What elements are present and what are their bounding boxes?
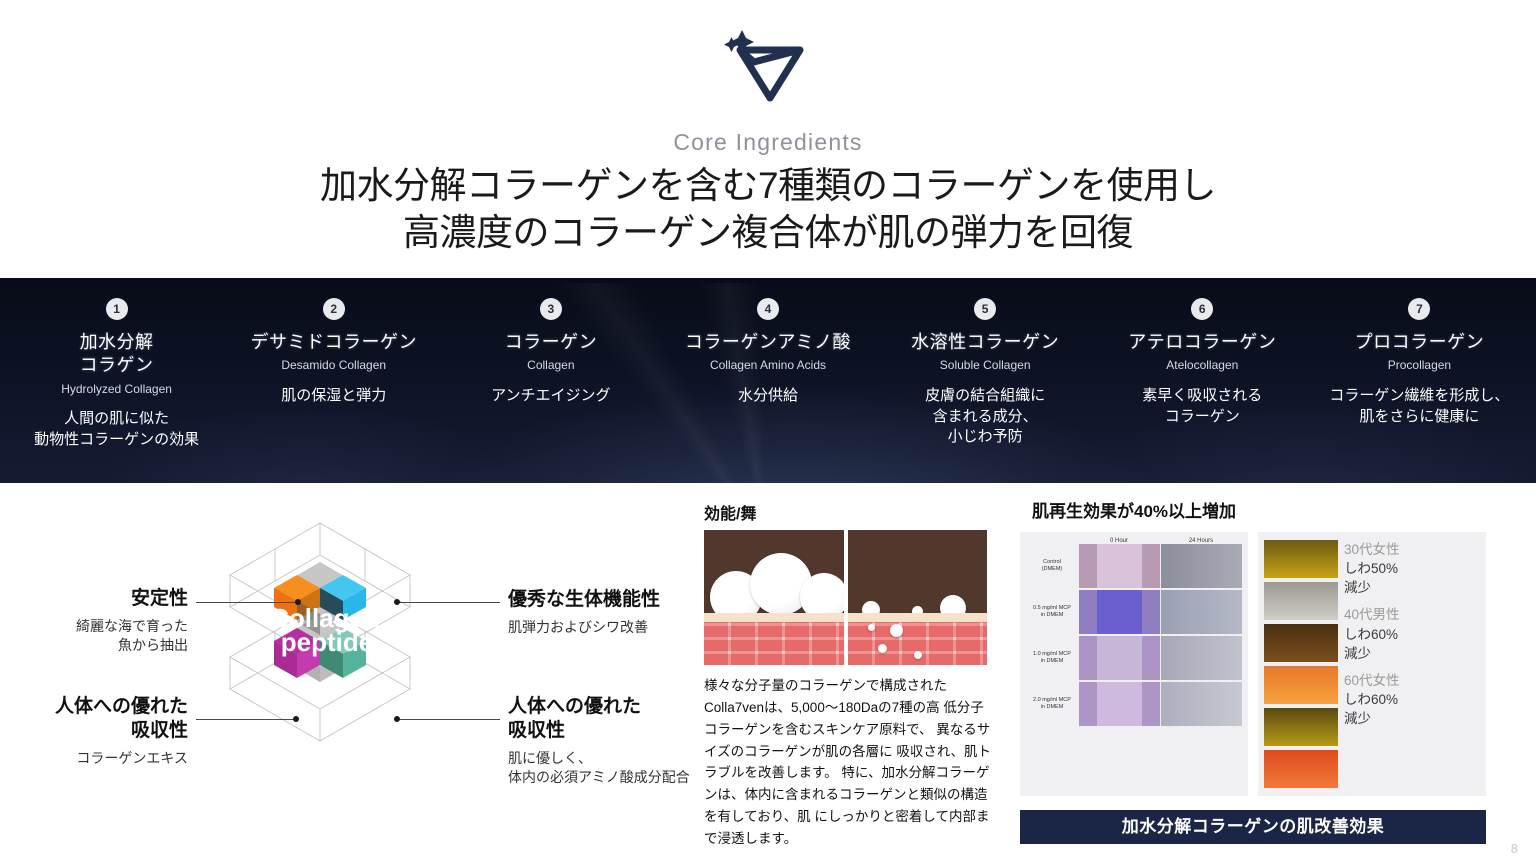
skin-figure-small-molecules: [848, 530, 988, 665]
assay-row: 0.5 mg/ml MCPin DMEM: [1026, 590, 1242, 634]
wrinkle-result-effect: しわ60%減少: [1344, 692, 1398, 726]
ingredient-name-jp-7: プロコラーゲン: [1313, 331, 1526, 354]
leader-dot-top-left: [295, 599, 301, 605]
ingredient-name-en-6: Atelocollagen: [1096, 358, 1309, 374]
ingredient-desc-6: 素早く吸収されるコラーゲン: [1096, 386, 1309, 427]
wrinkle-micro-image: [1264, 540, 1338, 578]
cube-label-biofunction-sub: 肌弾力およびシワ改善: [508, 618, 660, 638]
cube-label-absorption-right-title: 人体への優れた吸収性: [508, 695, 690, 743]
ingredient-desc-7: コラーゲン繊維を形成し、肌をさらに健康に: [1313, 386, 1526, 427]
ingredient-name-jp-1: 加水分解コラゲン: [10, 331, 223, 378]
ingredient-number-4: 4: [757, 298, 779, 320]
cube-label-stability: 安定性 綺麗な海で育った魚から抽出: [0, 587, 188, 656]
assay-row-label: Control(DMEM): [1026, 559, 1078, 573]
assay-image-0h: [1079, 682, 1160, 726]
leader-dot-top-right: [394, 599, 400, 605]
scratch-assay-panel: 0 Hour24 Hours Control(DMEM) 0.5 mg/ml M…: [1020, 532, 1248, 796]
cube-label-absorption-left-title: 人体への優れた吸収性: [0, 695, 188, 743]
ingredient-desc-1: 人間の肌に似た動物性コラーゲンの効果: [10, 409, 223, 450]
assay-image-24h: [1161, 590, 1242, 634]
assay-image-24h: [1161, 636, 1242, 680]
slide-header: Core Ingredients 加水分解コラーゲンを含む7種類のコラーゲンを使…: [0, 0, 1536, 257]
ingredient-desc-2: 肌の保湿と弾力: [227, 386, 440, 407]
headline-line-2: 高濃度のコラーゲン複合体が肌の弾力を回復: [0, 209, 1536, 256]
cube-label-absorption-left-sub: コラーゲンエキス: [0, 749, 188, 769]
leader-line-bottom-right: [396, 719, 500, 720]
cube-label-biofunction: 優秀な生体機能性 肌弾力およびシワ改善: [508, 588, 660, 637]
wrinkle-results-panel: 30代女性 しわ50%減少 40代男性 しわ60%減少 60代女性 しわ60%減…: [1258, 532, 1486, 796]
page-title: 加水分解コラーゲンを含む7種類のコラーゲンを使用し 高濃度のコラーゲン複合体が肌…: [0, 162, 1536, 257]
leader-line-top-right: [396, 602, 500, 603]
wrinkle-image-column: [1264, 540, 1338, 788]
cube-label-stability-title: 安定性: [0, 587, 188, 611]
ingredient-name-en-2: Desamido Collagen: [227, 358, 440, 374]
ingredients-list: 1 加水分解コラゲン Hydrolyzed Collagen 人間の肌に似た動物…: [0, 278, 1536, 483]
leader-dot-bottom-left: [293, 716, 299, 722]
wrinkle-result-effect: しわ60%減少: [1344, 627, 1398, 661]
wrinkle-micro-image: [1264, 582, 1338, 620]
ingredient-item-6: 6 アテロコラーゲン Atelocollagen 素早く吸収されるコラーゲン: [1094, 298, 1311, 483]
wrinkle-result-group: 40代男性: [1344, 607, 1400, 622]
molecule-ball-absorbed: [890, 624, 903, 637]
leader-line-top-left: [196, 602, 298, 603]
wrinkle-result-group: 60代女性: [1344, 673, 1400, 688]
assay-image-0h: [1079, 636, 1160, 680]
leader-dot-bottom-right: [394, 716, 400, 722]
assay-rows: Control(DMEM) 0.5 mg/ml MCPin DMEM 1.0 m…: [1026, 544, 1242, 726]
collagen-peptide-cube: Collagen peptide: [205, 515, 435, 765]
ingredient-name-en-5: Soluble Collagen: [879, 358, 1092, 374]
assay-row: Control(DMEM): [1026, 544, 1242, 588]
wrinkle-result-effect: しわ50%減少: [1344, 561, 1398, 595]
ingredient-number-5: 5: [974, 298, 996, 320]
cube-label-stability-sub: 綺麗な海で育った魚から抽出: [0, 617, 188, 656]
ingredient-name-en-1: Hydrolyzed Collagen: [10, 382, 223, 398]
ingredient-name-en-4: Collagen Amino Acids: [661, 358, 874, 374]
regeneration-title: 肌再生効果が40%以上増加: [1032, 497, 1536, 522]
ingredient-desc-5: 皮膚の結合組織に含まれる成分、小じわ予防: [879, 386, 1092, 448]
ingredient-item-5: 5 水溶性コラーゲン Soluble Collagen 皮膚の結合組織に含まれる…: [877, 298, 1094, 483]
lower-content: Collagen peptide 安定性 綺麗な海で育った魚から抽出 人体への優…: [0, 483, 1536, 864]
ingredient-number-6: 6: [1191, 298, 1213, 320]
skin-cell-layer: [704, 622, 844, 665]
assay-row: 1.0 mg/ml MCPin DMEM: [1026, 636, 1242, 680]
cube-label-absorption-right-sub: 肌に優しく、体内の必須アミノ酸成分配合: [508, 749, 690, 788]
ingredient-item-3: 3 コラーゲン Collagen アンチエイジング: [442, 298, 659, 483]
cube-label-absorption-right: 人体への優れた吸収性 肌に優しく、体内の必須アミノ酸成分配合: [508, 695, 690, 788]
assay-row: 2.0 mg/ml MCPin DMEM: [1026, 682, 1242, 726]
eyebrow-core-ingredients: Core Ingredients: [0, 129, 1536, 156]
wrinkle-result-item: 30代女性 しわ50%減少: [1344, 540, 1480, 597]
wrinkle-micro-image: [1264, 708, 1338, 746]
ingredient-name-en-3: Collagen: [444, 358, 657, 374]
cube-label-biofunction-title: 優秀な生体機能性: [508, 588, 660, 612]
ingredient-name-jp-5: 水溶性コラーゲン: [879, 331, 1092, 354]
wrinkle-result-group: 30代女性: [1344, 542, 1400, 557]
ingredient-item-7: 7 プロコラーゲン Procollagen コラーゲン繊維を形成し、肌をさらに健…: [1311, 298, 1528, 483]
efficacy-paragraph: 様々な分子量のコラーゲンで構成された Colla7venは、5,000〜180D…: [704, 675, 996, 850]
wrinkle-result-labels: 30代女性 しわ50%減少 40代男性 しわ60%減少 60代女性 しわ60%減…: [1344, 540, 1480, 788]
skin-figure-large-molecules: [704, 530, 844, 665]
regeneration-section: 肌再生効果が40%以上増加 0 Hour24 Hours Control(DME…: [1010, 483, 1536, 864]
ingredient-name-en-7: Procollagen: [1313, 358, 1526, 374]
ingredient-item-2: 2 デサミドコラーゲン Desamido Collagen 肌の保湿と弾力: [225, 298, 442, 483]
ingredient-item-4: 4 コラーゲンアミノ酸 Collagen Amino Acids 水分供給: [659, 298, 876, 483]
assay-row-label: 1.0 mg/ml MCPin DMEM: [1026, 651, 1078, 665]
regeneration-panels: 0 Hour24 Hours Control(DMEM) 0.5 mg/ml M…: [1020, 532, 1536, 796]
cube-label-absorption-left: 人体への優れた吸収性 コラーゲンエキス: [0, 695, 188, 768]
regeneration-banner: 加水分解コラーゲンの肌改善効果: [1020, 810, 1486, 844]
ingredient-name-jp-2: デサミドコラーゲン: [227, 331, 440, 354]
ingredient-name-jp-3: コラーゲン: [444, 331, 657, 354]
headline-line-1: 加水分解コラーゲンを含む7種類のコラーゲンを使用し: [0, 162, 1536, 209]
svg-text:peptide: peptide: [281, 627, 373, 657]
ingredient-desc-3: アンチエイジング: [444, 386, 657, 407]
assay-row-label: 0.5 mg/ml MCPin DMEM: [1026, 605, 1078, 619]
skin-penetration-figure: [704, 530, 987, 665]
molecule-ball-absorbed: [914, 651, 922, 659]
ingredient-desc-4: 水分供給: [661, 386, 874, 407]
wrinkle-micro-image: [1264, 624, 1338, 662]
cube-section: Collagen peptide 安定性 綺麗な海で育った魚から抽出 人体への優…: [0, 483, 700, 864]
ingredient-item-1: 1 加水分解コラゲン Hydrolyzed Collagen 人間の肌に似た動物…: [8, 298, 225, 483]
ingredients-band: 1 加水分解コラゲン Hydrolyzed Collagen 人間の肌に似た動物…: [0, 278, 1536, 483]
efficacy-title: 効能/舞: [704, 500, 1010, 524]
assay-row-label: 2.0 mg/ml MCPin DMEM: [1026, 697, 1078, 711]
molecule-ball-absorbed: [878, 644, 887, 653]
assay-image-0h: [1079, 544, 1160, 588]
ingredient-number-1: 1: [106, 298, 128, 320]
wrinkle-result-item: 40代男性 しわ60%減少: [1344, 605, 1480, 662]
diamond-icon: [0, 28, 1536, 115]
ingredient-number-7: 7: [1408, 298, 1430, 320]
ingredient-number-3: 3: [540, 298, 562, 320]
leader-line-bottom-left: [196, 719, 296, 720]
ingredient-name-jp-4: コラーゲンアミノ酸: [661, 331, 874, 354]
assay-image-24h: [1161, 544, 1242, 588]
assay-image-0h: [1079, 590, 1160, 634]
assay-image-24h: [1161, 682, 1242, 726]
wrinkle-micro-image: [1264, 750, 1338, 788]
ingredient-name-jp-6: アテロコラーゲン: [1096, 331, 1309, 354]
page-number: 8: [1511, 841, 1518, 856]
ingredient-number-2: 2: [323, 298, 345, 320]
molecule-ball-absorbed: [868, 624, 875, 631]
efficacy-section: 効能/舞 様々な分子量のコラーゲンで構成された Colla7ve: [700, 483, 1010, 864]
wrinkle-micro-image: [1264, 666, 1338, 704]
wrinkle-result-item: 60代女性 しわ60%減少: [1344, 671, 1480, 728]
